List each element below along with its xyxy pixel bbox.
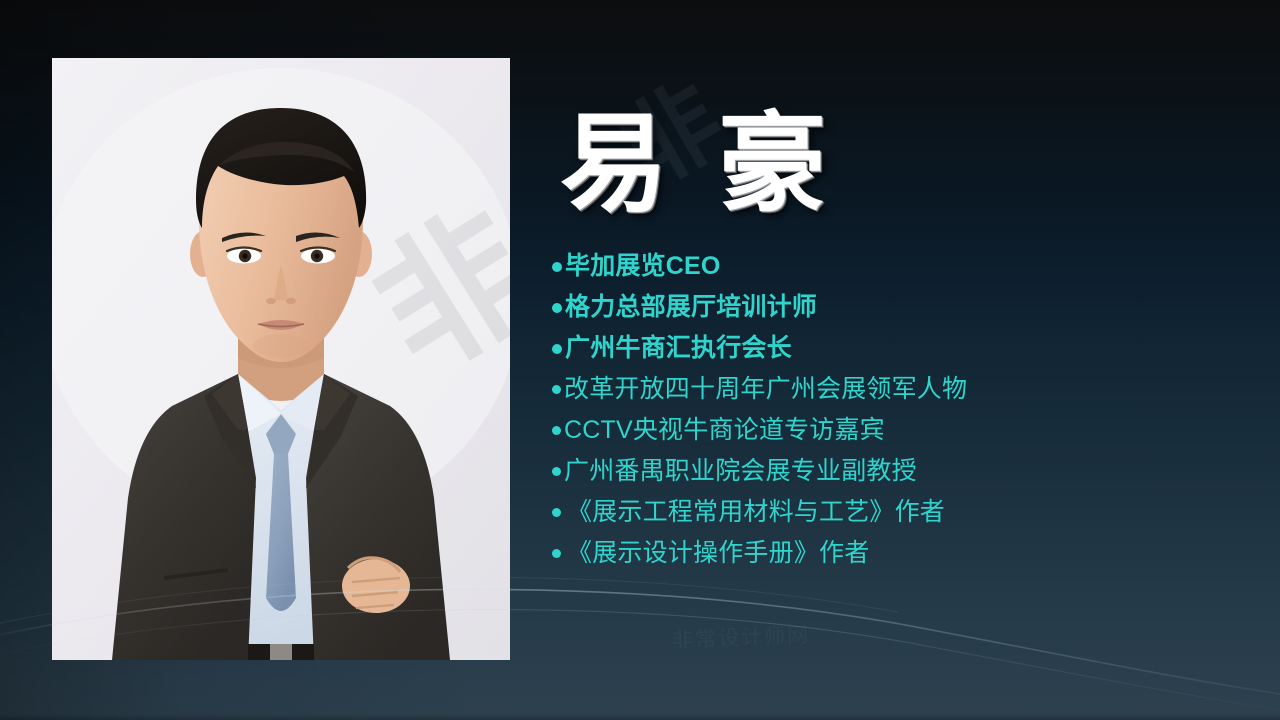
- list-item-label: 格力总部展厅培训计师: [565, 295, 817, 320]
- speaker-name-title: 易 豪: [560, 106, 836, 223]
- presentation-slide: 非 非 易 豪 毕加展览CEO 格力总部展厅培训计师 广州牛商汇执行会长 改革开…: [0, 0, 1280, 720]
- list-item-label: 广州牛商汇执行会长: [565, 336, 792, 361]
- list-item: 格力总部展厅培训计师: [552, 287, 1252, 328]
- list-item-label: 毕加展览CEO: [565, 254, 721, 279]
- list-item: 《展示工程常用材料与工艺》作者: [552, 492, 1252, 533]
- list-item-label: CCTV央视牛商论道专访嘉宾: [564, 418, 885, 443]
- slide-content: 非 易 豪 毕加展览CEO 格力总部展厅培训计师 广州牛商汇执行会长 改革开放四…: [548, 0, 1268, 720]
- list-item-label: 《展示设计操作手册》作者: [567, 541, 869, 566]
- bullet-dot-icon: [552, 385, 561, 394]
- list-item: 广州番禺职业院会展专业副教授: [552, 451, 1252, 492]
- list-item: 广州牛商汇执行会长: [552, 328, 1252, 369]
- list-item-label: 改革开放四十周年广州会展领军人物: [564, 377, 967, 402]
- bullet-dot-icon: [552, 549, 561, 558]
- list-item: 《展示设计操作手册》作者: [552, 533, 1252, 574]
- bullet-dot-icon: [552, 262, 562, 272]
- bullet-dot-icon: [552, 303, 562, 313]
- bullet-dot-icon: [552, 508, 561, 517]
- list-item: 改革开放四十周年广州会展领军人物: [552, 369, 1252, 410]
- list-item-label: 广州番禺职业院会展专业副教授: [564, 459, 917, 484]
- bullet-dot-icon: [552, 426, 561, 435]
- portrait-illustration: [52, 58, 510, 660]
- bullet-dot-icon: [552, 344, 562, 354]
- bullet-dot-icon: [552, 467, 561, 476]
- list-item: CCTV央视牛商论道专访嘉宾: [552, 410, 1252, 451]
- speaker-portrait: 非: [52, 58, 510, 660]
- list-item: 毕加展览CEO: [552, 246, 1252, 287]
- list-item-label: 《展示工程常用材料与工艺》作者: [567, 500, 945, 525]
- credentials-list: 毕加展览CEO 格力总部展厅培训计师 广州牛商汇执行会长 改革开放四十周年广州会…: [552, 246, 1252, 574]
- bottom-edge-strip: [0, 714, 1280, 720]
